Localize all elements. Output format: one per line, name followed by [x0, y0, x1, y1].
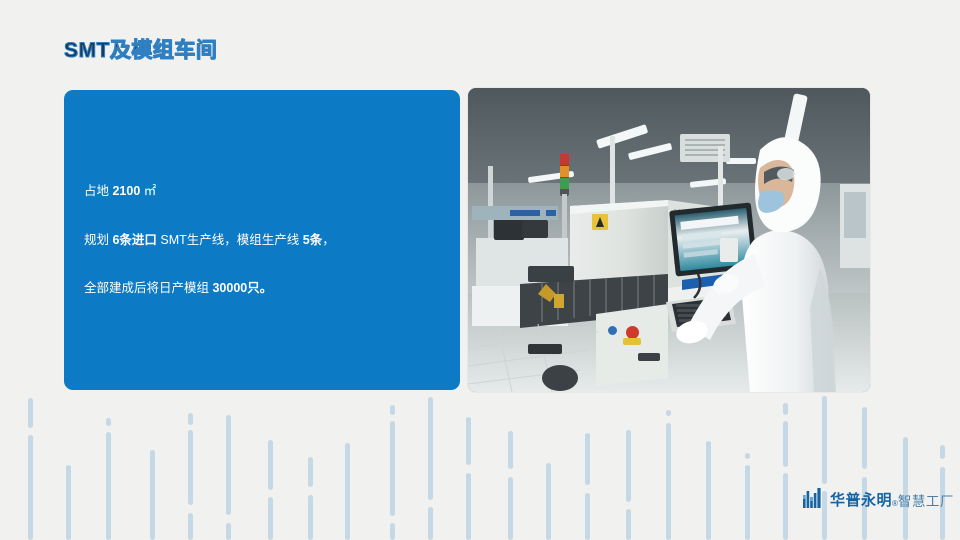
info-line1-unit: ㎡: [140, 184, 156, 198]
info-line2-mid: SMT生产线，模组生产线: [157, 233, 303, 247]
info-line1-value: 2100: [112, 184, 140, 198]
workshop-photo: HELLER: [468, 88, 870, 392]
info-card-line-plan: 规划 6条进口 SMT生产线，模组生产线 5条，: [84, 234, 460, 247]
brand-logo: 华普永明 ® 智慧工厂: [803, 488, 954, 508]
info-line3-bold-output: 30000只。: [212, 281, 272, 295]
info-line2-prefix: 规划: [84, 233, 112, 247]
brand-name: 华普永明: [830, 493, 892, 508]
info-card-line-area: 占地 2100 ㎡: [84, 185, 460, 198]
info-card: 占地 2100 ㎡ 规划 6条进口 SMT生产线，模组生产线 5条， 全部建成后…: [64, 90, 460, 390]
info-line2-bold-lines: 6条进口: [112, 233, 156, 247]
info-card-line-capacity: 全部建成后将日产模组 30000只。: [84, 282, 460, 295]
info-line1-prefix: 占地: [84, 184, 112, 198]
decorative-bar-pattern: [0, 395, 960, 540]
info-line2-suffix: ，: [322, 233, 335, 247]
info-line3-prefix: 全部建成后将日产模组: [84, 281, 212, 295]
brand-subtitle: 智慧工厂: [898, 495, 954, 509]
info-line2-bold-modules: 5条: [303, 233, 322, 247]
page-title: SMT及模组车间: [64, 34, 217, 64]
logo-mark-icon: [803, 488, 825, 508]
slide-canvas: SMT及模组车间 占地 2100 ㎡ 规划 6条进口 SMT生产线，模组生产线 …: [0, 0, 960, 540]
